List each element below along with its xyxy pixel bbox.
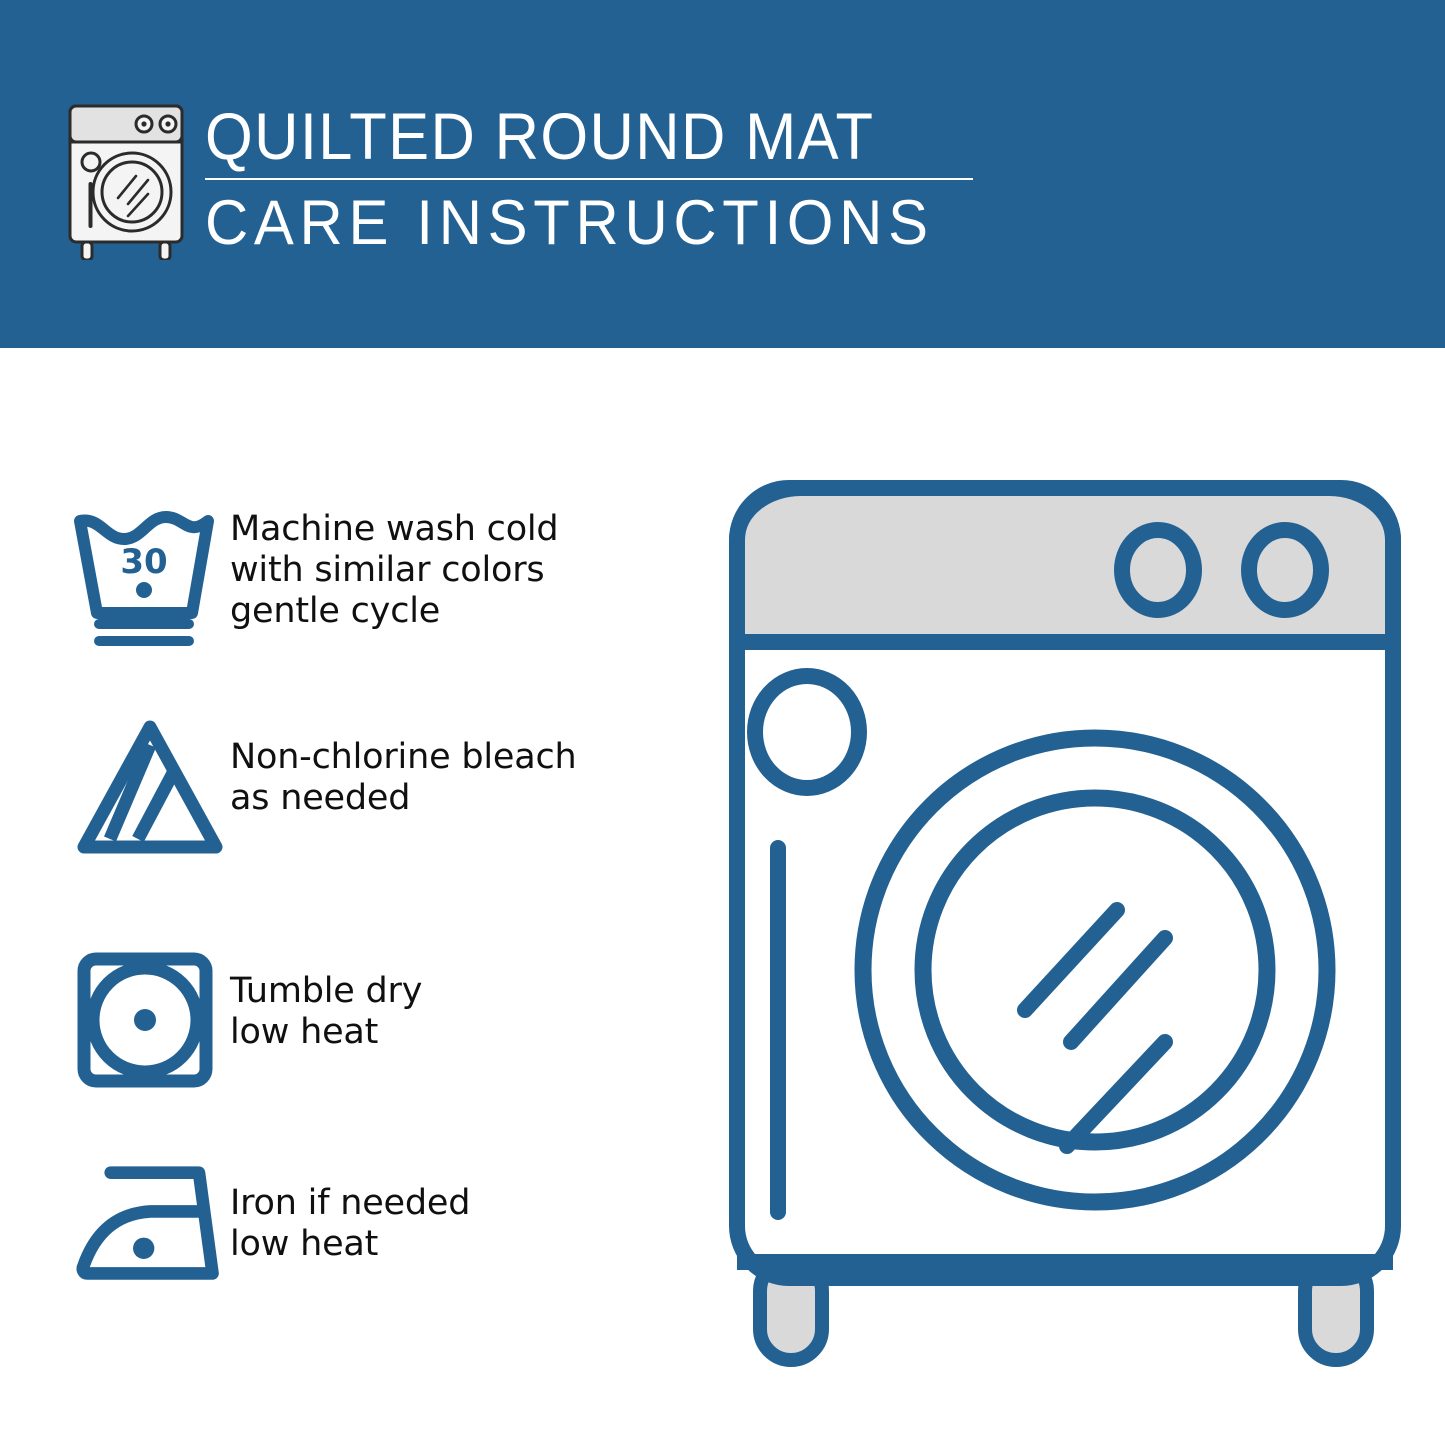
care-line: with similar colors: [230, 550, 690, 591]
front-load-washing-machine-illustration: [715, 470, 1415, 1370]
iron-low-heat-icon: [70, 1155, 230, 1295]
care-instructions-page: QUILTED ROUND MAT CARE INSTRUCTIONS 30: [0, 0, 1445, 1445]
care-row-bleach: Non-chlorine bleach as needed: [70, 715, 690, 865]
care-text-iron: Iron if needed low heat: [230, 1155, 690, 1265]
care-row-tumble-dry: Tumble dry low heat: [70, 945, 690, 1095]
non-chlorine-bleach-triangle-icon: [70, 715, 230, 865]
care-text-tumble-dry: Tumble dry low heat: [230, 945, 690, 1053]
care-line: gentle cycle: [230, 591, 690, 632]
care-line: Non-chlorine bleach: [230, 737, 690, 778]
care-row-wash: 30 Machine wash cold with similar colors…: [70, 505, 690, 650]
care-text-bleach: Non-chlorine bleach as needed: [230, 715, 690, 819]
care-line: Tumble dry: [230, 971, 690, 1012]
care-row-iron: Iron if needed low heat: [70, 1155, 690, 1295]
care-text-wash: Machine wash cold with similar colors ge…: [230, 505, 690, 632]
care-line: as needed: [230, 778, 690, 819]
care-line: Iron if needed: [230, 1183, 690, 1224]
wash-temperature-label: 30: [120, 542, 167, 582]
care-line: Machine wash cold: [230, 509, 690, 550]
care-line: low heat: [230, 1224, 690, 1265]
instructions-list: 30 Machine wash cold with similar colors…: [0, 0, 700, 1445]
tumble-dry-low-icon: [70, 945, 230, 1095]
wash-tub-30-gentle-icon: 30: [70, 505, 230, 650]
care-line: low heat: [230, 1012, 690, 1053]
